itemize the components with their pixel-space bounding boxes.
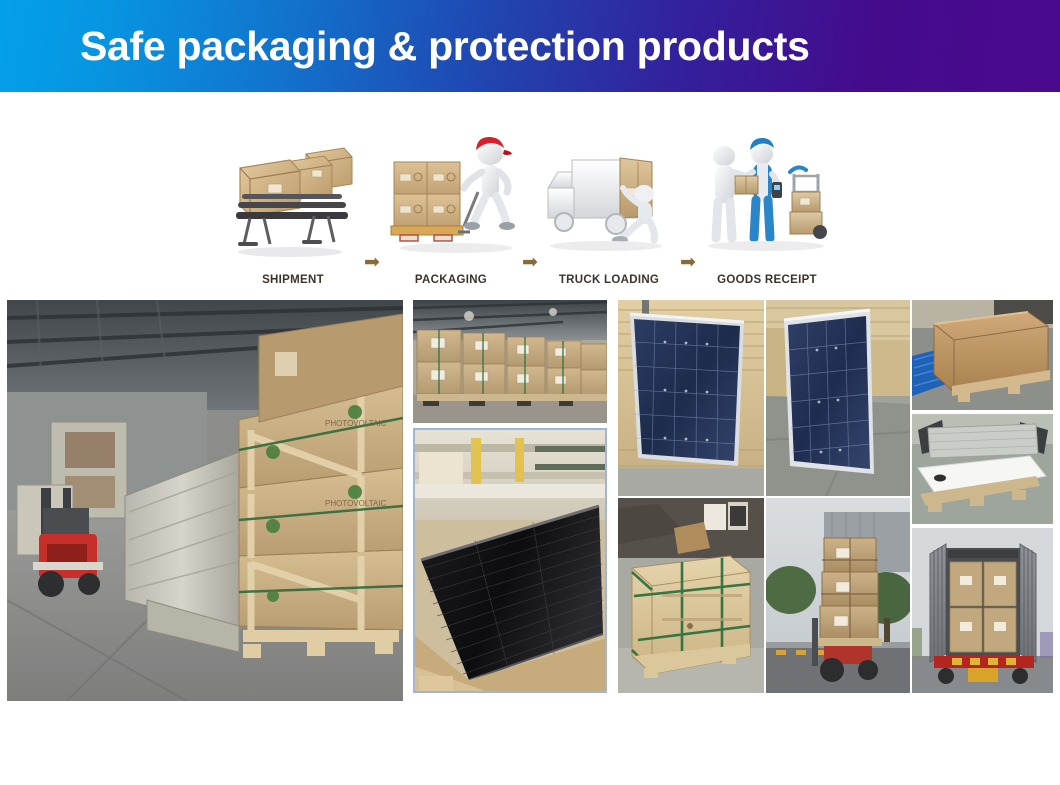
arrow-separator-3: ➡: [674, 116, 702, 286]
stage-label-packaging: PACKAGING: [415, 274, 487, 286]
photo-carton-stacks: [413, 300, 607, 423]
photo-wooden-crate: [618, 498, 764, 693]
conveyor-boxes-icon: [228, 132, 358, 260]
truck-loading-icon: [544, 132, 674, 260]
header-banner: Safe packaging & protection products: [0, 0, 1060, 92]
goods-receipt-icon: [702, 132, 832, 260]
stage-shipment: SHIPMENT: [228, 116, 358, 286]
pallet-jack-worker-icon: [386, 132, 516, 260]
photo-carton-pallet: [912, 300, 1053, 410]
photo-panel-front: [618, 300, 764, 496]
stage-label-goods-receipt: GOODS RECEIPT: [717, 274, 817, 286]
svg-text:PHOTOVOLTAIC: PHOTOVOLTAIC: [325, 499, 387, 508]
infographic-stages: SHIPMENT ➡: [228, 116, 832, 286]
arrow-right-icon: ➡: [680, 254, 696, 272]
page-title: Safe packaging & protection products: [80, 18, 810, 74]
photo-white-panel: [912, 414, 1053, 524]
stage-packaging: PACKAGING: [386, 116, 516, 286]
photo-warehouse-pallets: PHOTOVOLTAIC PHOTOVOLTAIC PHOTOVOLTAIC: [7, 300, 403, 701]
stage-label-shipment: SHIPMENT: [262, 274, 324, 286]
photo-black-panel: [413, 428, 607, 693]
stage-label-truck-loading: TRUCK LOADING: [559, 274, 659, 286]
photo-forklift-outdoor: [766, 498, 910, 693]
arrow-right-icon: ➡: [522, 254, 538, 272]
svg-text:PHOTOVOLTAIC: PHOTOVOLTAIC: [325, 419, 387, 428]
logistics-infographic: SHIPMENT ➡: [0, 92, 1060, 292]
arrow-right-icon: ➡: [364, 254, 380, 272]
photo-container-truck: [912, 528, 1053, 693]
arrow-separator-2: ➡: [516, 116, 544, 286]
arrow-separator-1: ➡: [358, 116, 386, 286]
stage-truck-loading: TRUCK LOADING: [544, 116, 674, 286]
stage-goods-receipt: GOODS RECEIPT: [702, 116, 832, 286]
photo-panel-warehouse: [766, 300, 910, 496]
product-photo-grid: PHOTOVOLTAIC PHOTOVOLTAIC PHOTOVOLTAIC: [0, 292, 1060, 702]
